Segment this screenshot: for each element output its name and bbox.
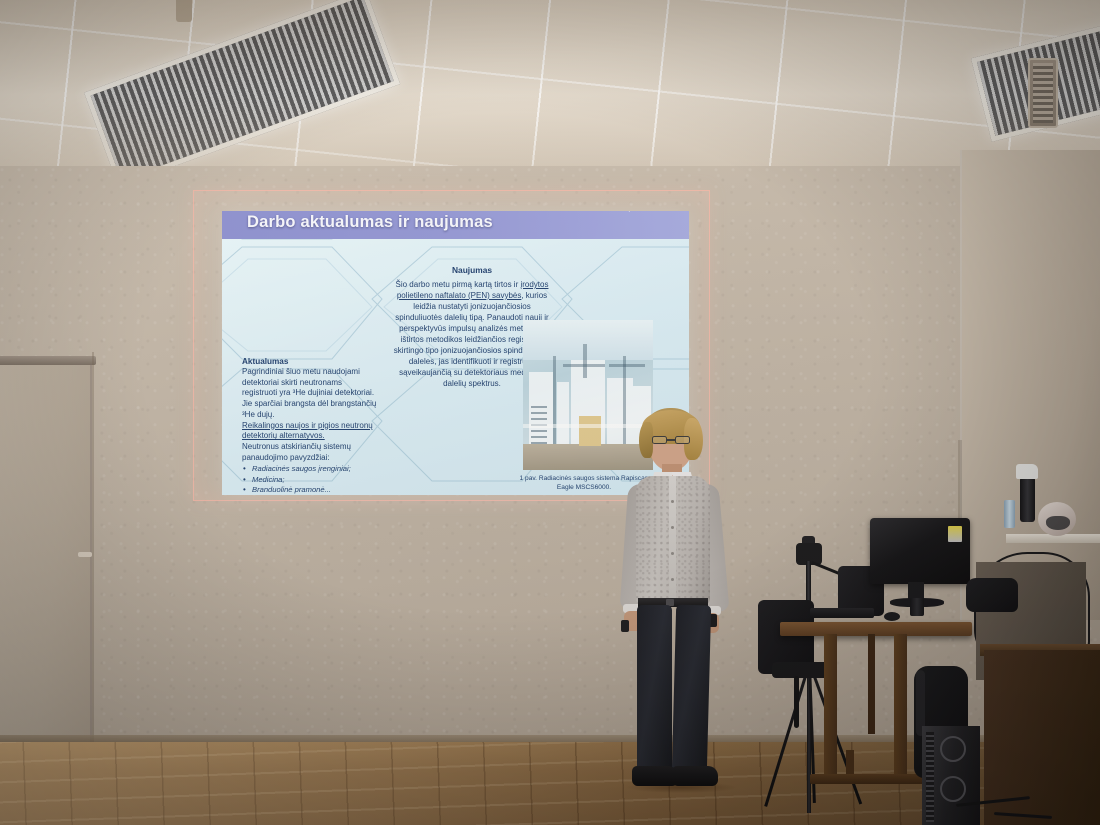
desk-leg [894, 634, 907, 782]
desk-top [780, 622, 972, 636]
block-paragraph-underlined: Reikalingos naujos ir pigios neutronų de… [242, 421, 378, 442]
block-heading: Naujumas [390, 265, 554, 275]
page-title: Darbo aktualumas ir naujumas [247, 213, 493, 232]
wall-vent [1028, 58, 1058, 128]
slide-block-aktualumas: Aktualumas Pagrindiniai šiuo metu naudoj… [242, 357, 378, 495]
right-trouser-leg [672, 605, 711, 774]
right-shoe [672, 766, 718, 786]
mouse[interactable] [884, 612, 900, 621]
pc-fan-icon [940, 736, 966, 762]
block-bullet-list: Radiacinės saugos įrenginiai; Medicina; … [242, 464, 378, 495]
desk-equipment-area [758, 500, 1100, 825]
hair-left-strand [639, 422, 653, 458]
monitor-sticker [948, 526, 962, 542]
chair-leg [794, 676, 799, 728]
ceiling [0, 0, 1100, 172]
helmet-visor [1046, 516, 1070, 530]
wall-seam [92, 352, 94, 744]
conference-room-scene: Darbo aktualumas ir naujumas Presenting.… [0, 0, 1100, 825]
text-part-1: Šio darbo metu pirmą kartą tirtos ir [396, 280, 521, 289]
block-heading: Aktualumas [242, 357, 378, 366]
spray-nozzle[interactable] [1016, 464, 1038, 479]
shirt-placket [669, 476, 676, 602]
pc-fan-icon [940, 776, 966, 802]
door-handle[interactable] [78, 552, 92, 557]
water-bottle[interactable] [1004, 500, 1015, 528]
organisation-logo: MOKSLO IR TECHNOLOGIJų PERDAVIMO CENTRAS [622, 211, 683, 212]
list-item: Radiacinės saugos įrenginiai; [242, 464, 378, 474]
desk-brace [868, 634, 875, 734]
keyboard[interactable] [810, 608, 874, 618]
block-paragraph-2: Neutronus atskiriančių sistemų panaudoji… [242, 442, 378, 463]
ceiling-shading [0, 0, 1100, 172]
legs [637, 605, 709, 773]
bag-on-desk[interactable] [966, 578, 1018, 612]
spray-bottle[interactable] [1020, 478, 1035, 522]
logo-mark-icon [622, 211, 639, 212]
desk-foot [810, 774, 928, 784]
door-rail [0, 356, 96, 365]
cup[interactable] [910, 598, 924, 616]
left-trouser-leg [637, 605, 672, 773]
presenter [612, 408, 752, 806]
block-paragraph-1: Pagrindiniai šiuo metu naudojami detekto… [242, 367, 378, 421]
list-item: Medicina; [242, 475, 378, 485]
presentation-clicker[interactable] [621, 620, 629, 632]
eyeglasses-icon [652, 436, 690, 444]
door[interactable] [0, 358, 92, 758]
pc-vent [926, 732, 934, 822]
list-item: Branduolinė pramonė... [242, 485, 378, 495]
desk-leg [824, 634, 837, 782]
